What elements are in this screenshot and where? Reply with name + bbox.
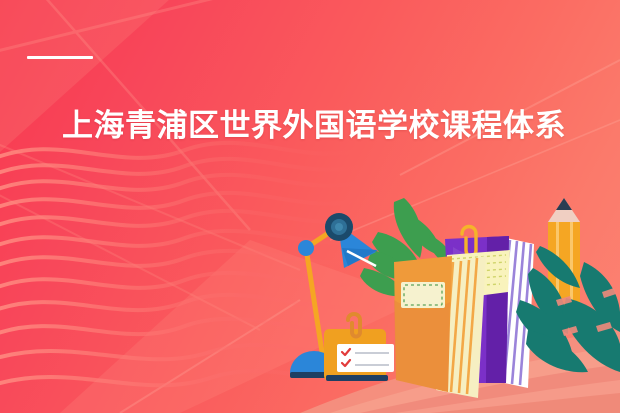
course-system-banner: 上海青浦区世界外国语学校课程体系: [0, 0, 620, 413]
clipboard-note: [337, 344, 394, 372]
note-line: [355, 352, 389, 354]
title-underline-rule: [27, 56, 93, 59]
clipboard-with-checklist: [324, 314, 394, 381]
notebook-label: [401, 282, 445, 308]
school-supplies-illustration: [0, 0, 620, 413]
lamp-arm-lower: [306, 248, 322, 352]
lamp-joint: [298, 240, 314, 256]
lamp-head-core: [335, 223, 343, 231]
orange-notebook: [394, 256, 452, 392]
page-title: 上海青浦区世界外国语学校课程体系: [62, 104, 582, 148]
pencil-tip: [556, 198, 572, 210]
clipboard-shadow-bar: [326, 375, 388, 381]
notebook-shading: [394, 300, 450, 392]
note-line: [355, 364, 389, 366]
